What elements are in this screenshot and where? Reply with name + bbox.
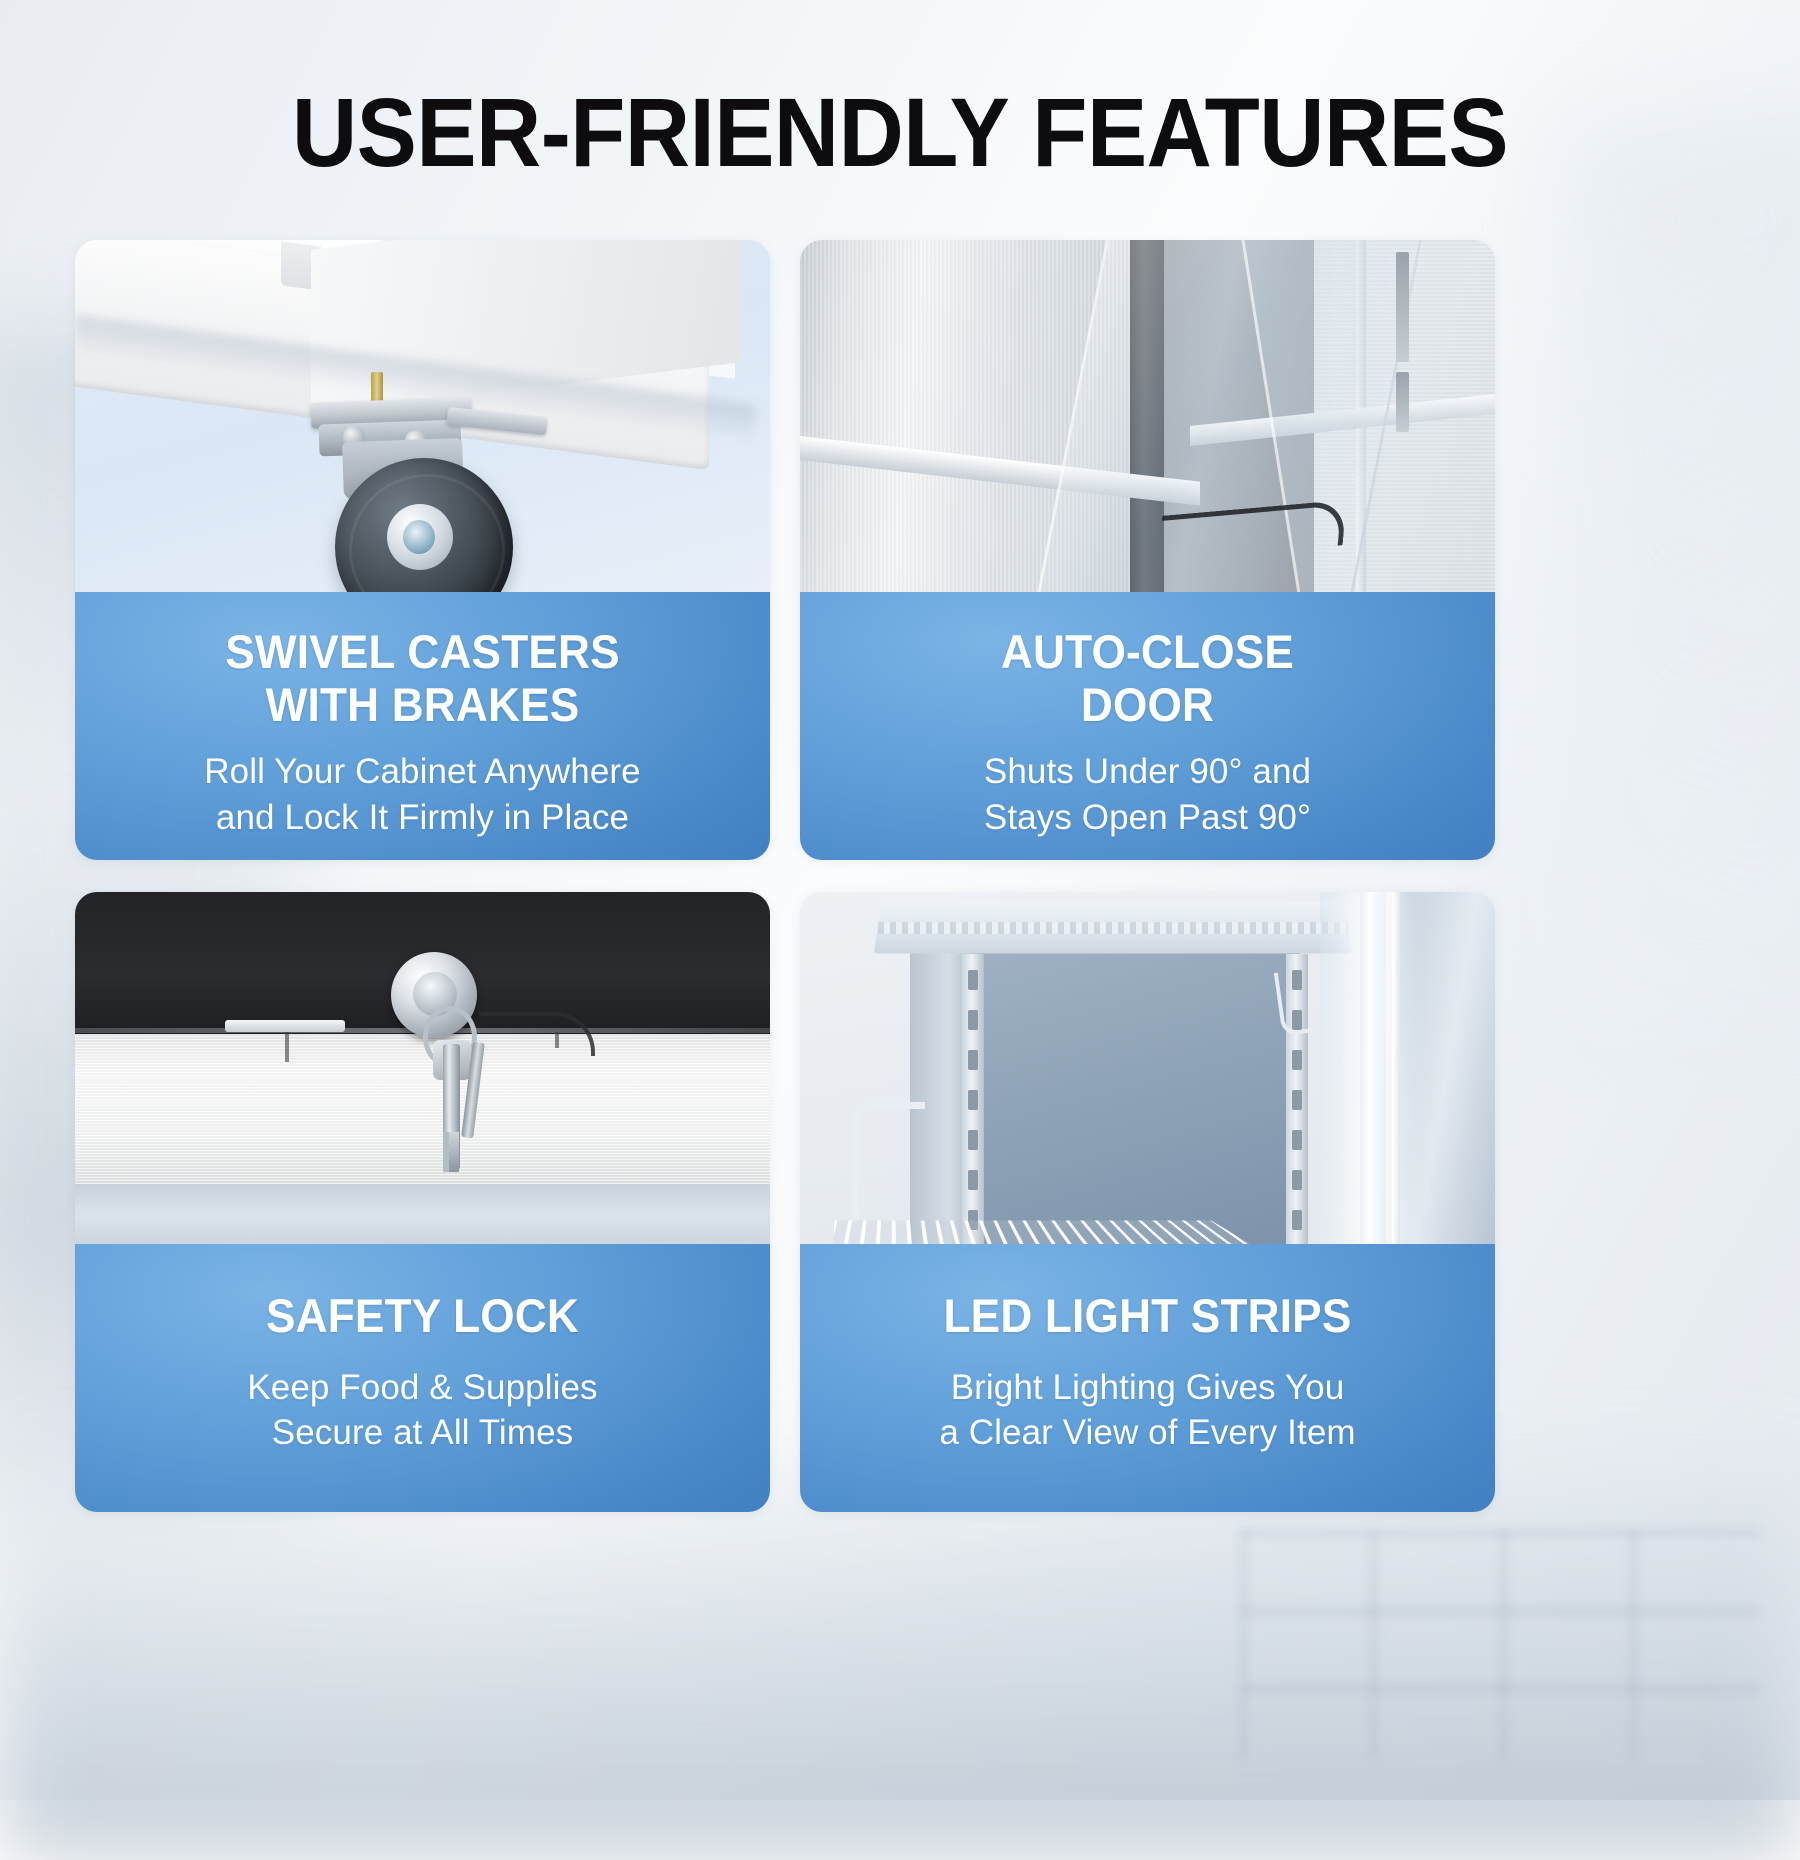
feature-subtitle-line2: Secure at All Times xyxy=(75,1410,770,1456)
feature-subtitle-line1: Roll Your Cabinet Anywhere xyxy=(75,749,770,795)
feature-subtitle-line1: Shuts Under 90° and xyxy=(800,749,1495,795)
feature-caption-safety-lock: SAFETY LOCK Keep Food & Supplies Secure … xyxy=(75,1244,770,1512)
feature-subtitle-line1: Keep Food & Supplies xyxy=(75,1365,770,1411)
feature-grid: SWIVEL CASTERS WITH BRAKES Roll Your Cab… xyxy=(75,240,1495,1512)
feature-card-swivel-casters[interactable]: SWIVEL CASTERS WITH BRAKES Roll Your Cab… xyxy=(75,240,770,860)
feature-subtitle-line2: a Clear View of Every Item xyxy=(800,1410,1495,1456)
feature-card-auto-close-door[interactable]: AUTO-CLOSE DOOR Shuts Under 90° and Stay… xyxy=(800,240,1495,860)
feature-card-safety-lock[interactable]: SAFETY LOCK Keep Food & Supplies Secure … xyxy=(75,892,770,1512)
feature-title-line1: SAFETY LOCK xyxy=(96,1290,749,1343)
feature-caption-auto-close-door: AUTO-CLOSE DOOR Shuts Under 90° and Stay… xyxy=(800,592,1495,860)
auto-close-door-image xyxy=(800,240,1495,592)
feature-subtitle-line2: Stays Open Past 90° xyxy=(800,795,1495,841)
background-blur-right xyxy=(1560,120,1800,1020)
page-title: USER-FRIENDLY FEATURES xyxy=(63,82,1737,184)
feature-title-line1: SWIVEL CASTERS xyxy=(96,626,749,679)
led-light-strips-image xyxy=(800,892,1495,1244)
feature-subtitle-line2: and Lock It Firmly in Place xyxy=(75,795,770,841)
feature-title-line2: WITH BRAKES xyxy=(96,679,749,732)
feature-title-line1: AUTO-CLOSE xyxy=(821,626,1474,679)
safety-lock-image xyxy=(75,892,770,1244)
feature-title-line1: LED LIGHT STRIPS xyxy=(821,1290,1474,1343)
feature-title-line2: DOOR xyxy=(821,679,1474,732)
feature-caption-swivel-casters: SWIVEL CASTERS WITH BRAKES Roll Your Cab… xyxy=(75,592,770,860)
background-shelf-blur xyxy=(1240,1530,1760,1760)
feature-card-led-light-strips[interactable]: LED LIGHT STRIPS Bright Lighting Gives Y… xyxy=(800,892,1495,1512)
feature-subtitle-line1: Bright Lighting Gives You xyxy=(800,1365,1495,1411)
swivel-caster-image xyxy=(75,240,770,592)
feature-caption-led-light-strips: LED LIGHT STRIPS Bright Lighting Gives Y… xyxy=(800,1244,1495,1512)
